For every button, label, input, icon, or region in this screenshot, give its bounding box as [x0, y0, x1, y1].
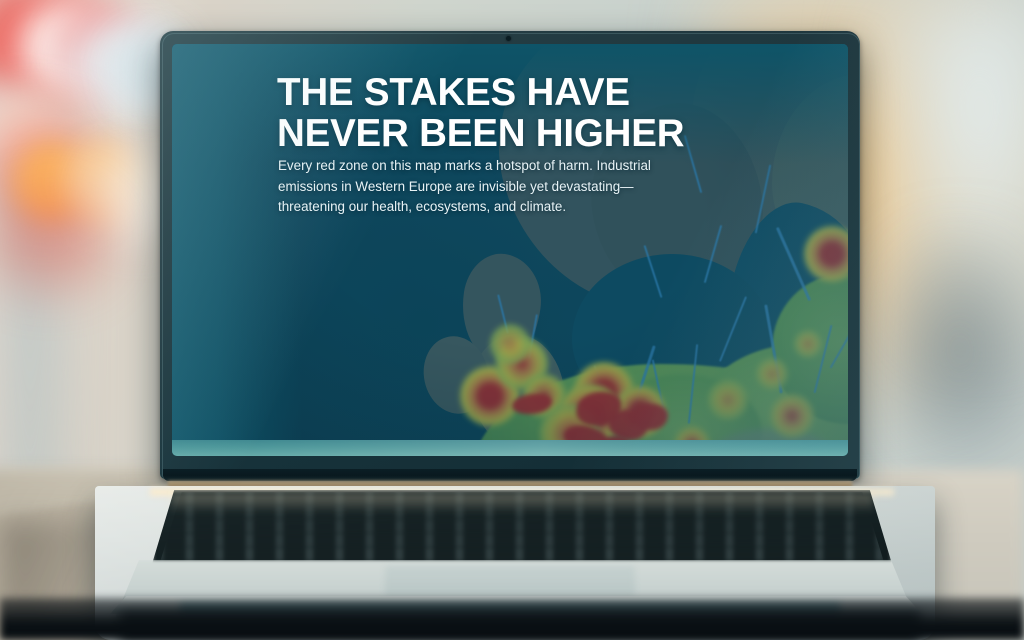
laptop-screen[interactable]: THE STAKES HAVE NEVER BEEN HIGHER Every … — [172, 44, 848, 456]
keyboard-row[interactable] — [160, 548, 884, 561]
laptop-hinge — [163, 469, 857, 481]
slide-footer-shine — [172, 440, 848, 456]
foreground-shadow — [0, 598, 1024, 640]
slide-body-copy: Every red zone on this map marks a hotsp… — [278, 156, 698, 218]
body-line-3: ecosystems, and climate. — [416, 199, 566, 214]
keyboard-row[interactable] — [160, 534, 884, 547]
webcam-icon — [506, 36, 511, 41]
slide-headline: THE STAKES HAVE NEVER BEEN HIGHER — [277, 72, 707, 154]
laptop: THE STAKES HAVE NEVER BEEN HIGHER Every … — [0, 0, 1024, 640]
keyboard-row[interactable] — [160, 520, 884, 533]
keyboard-backlight-glow — [170, 493, 874, 513]
headline-line-1: THE STAKES HAVE — [277, 72, 707, 113]
headline-line-2: NEVER BEEN HIGHER — [277, 113, 707, 154]
screenshot-scene: THE STAKES HAVE NEVER BEEN HIGHER Every … — [0, 0, 1024, 640]
trackpad[interactable] — [385, 566, 635, 596]
